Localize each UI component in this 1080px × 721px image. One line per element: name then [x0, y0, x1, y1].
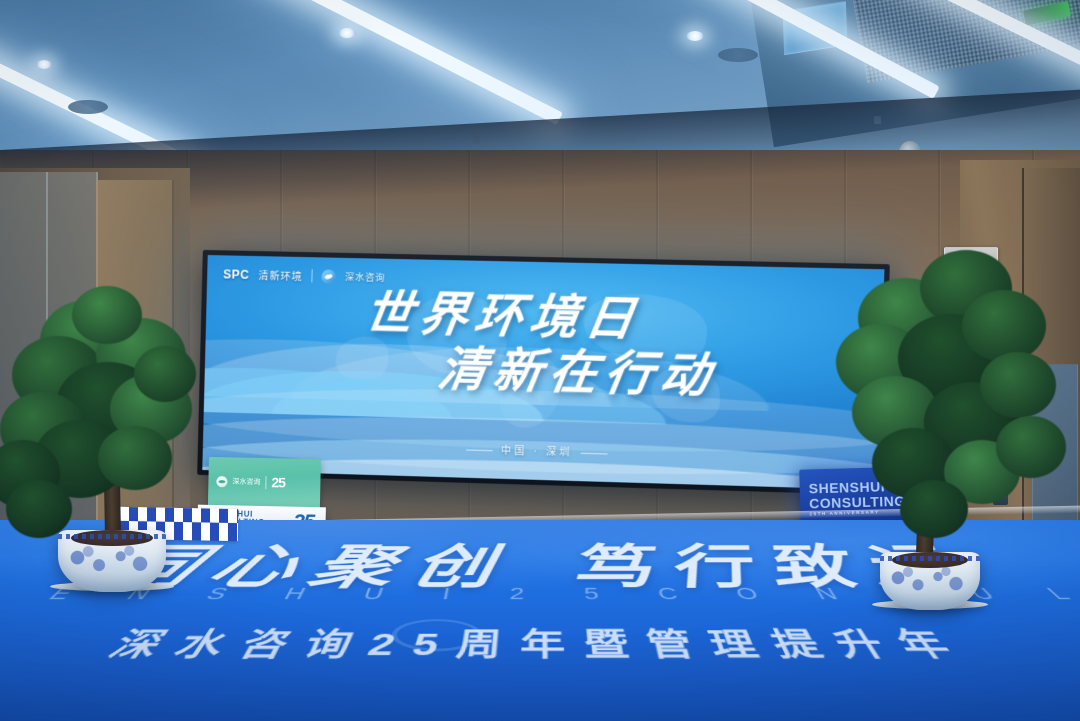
spc-logo-name: 清新环境 [258, 267, 303, 283]
recessed-downlight [36, 60, 52, 69]
recessed-downlight [338, 28, 356, 38]
planter-rim-pattern [58, 534, 166, 539]
led-subtitle-text: 中国 · 深圳 [501, 445, 573, 458]
tree-trunk-left [103, 420, 121, 540]
podium-divider [265, 476, 266, 489]
planter-blue-white-pattern [880, 565, 980, 597]
led-brand-logo-bar: SPC 清新环境 深水咨询 [223, 266, 386, 285]
wall-plaque [944, 247, 998, 284]
shenshui-logo-name: 深水咨询 [345, 270, 386, 284]
wall-light-switch[interactable] [993, 492, 1008, 505]
subtitle-dash-right [581, 453, 608, 455]
planter-rim-pattern [880, 556, 980, 561]
shenshui-logo-icon [322, 269, 336, 283]
smoke-detector [718, 48, 758, 62]
planter-blue-white-pattern [58, 544, 166, 579]
led-screen-content: SPC 清新环境 深水咨询 世界环境日 清新在行动 中国 · 深圳 [202, 255, 884, 490]
glass-mullion [46, 172, 48, 532]
porcelain-planter-right [880, 552, 980, 610]
shenshui-logo-icon [216, 476, 227, 487]
spc-logo-abbrev: SPC [223, 267, 250, 282]
left-glass-poster [4, 430, 76, 492]
logo-divider [312, 269, 313, 282]
led-video-wall[interactable]: SPC 清新环境 深水咨询 世界环境日 清新在行动 中国 · 深圳 [202, 255, 884, 490]
subtitle-dash-left [466, 449, 493, 451]
linear-led-strip [227, 0, 563, 125]
blue-anniversary-sign: SHENSHUI CONSULTING 25TH ANNIVERSARY [799, 466, 923, 527]
lobby-photo-scene: SPC 清新环境 深水咨询 世界环境日 清新在行动 中国 · 深圳 深水咨询 2… [0, 0, 1080, 721]
podium-top-panel: 深水咨询 25 [208, 457, 321, 511]
left-glass-partition [0, 172, 98, 532]
porcelain-planter-left [58, 530, 166, 592]
recessed-downlight [686, 31, 704, 41]
podium-top-branding: 深水咨询 25 [216, 473, 312, 491]
podium-anniversary-number: 25 [271, 474, 285, 490]
smoke-detector [68, 100, 108, 114]
podium-brand-name: 深水咨询 [232, 476, 260, 487]
